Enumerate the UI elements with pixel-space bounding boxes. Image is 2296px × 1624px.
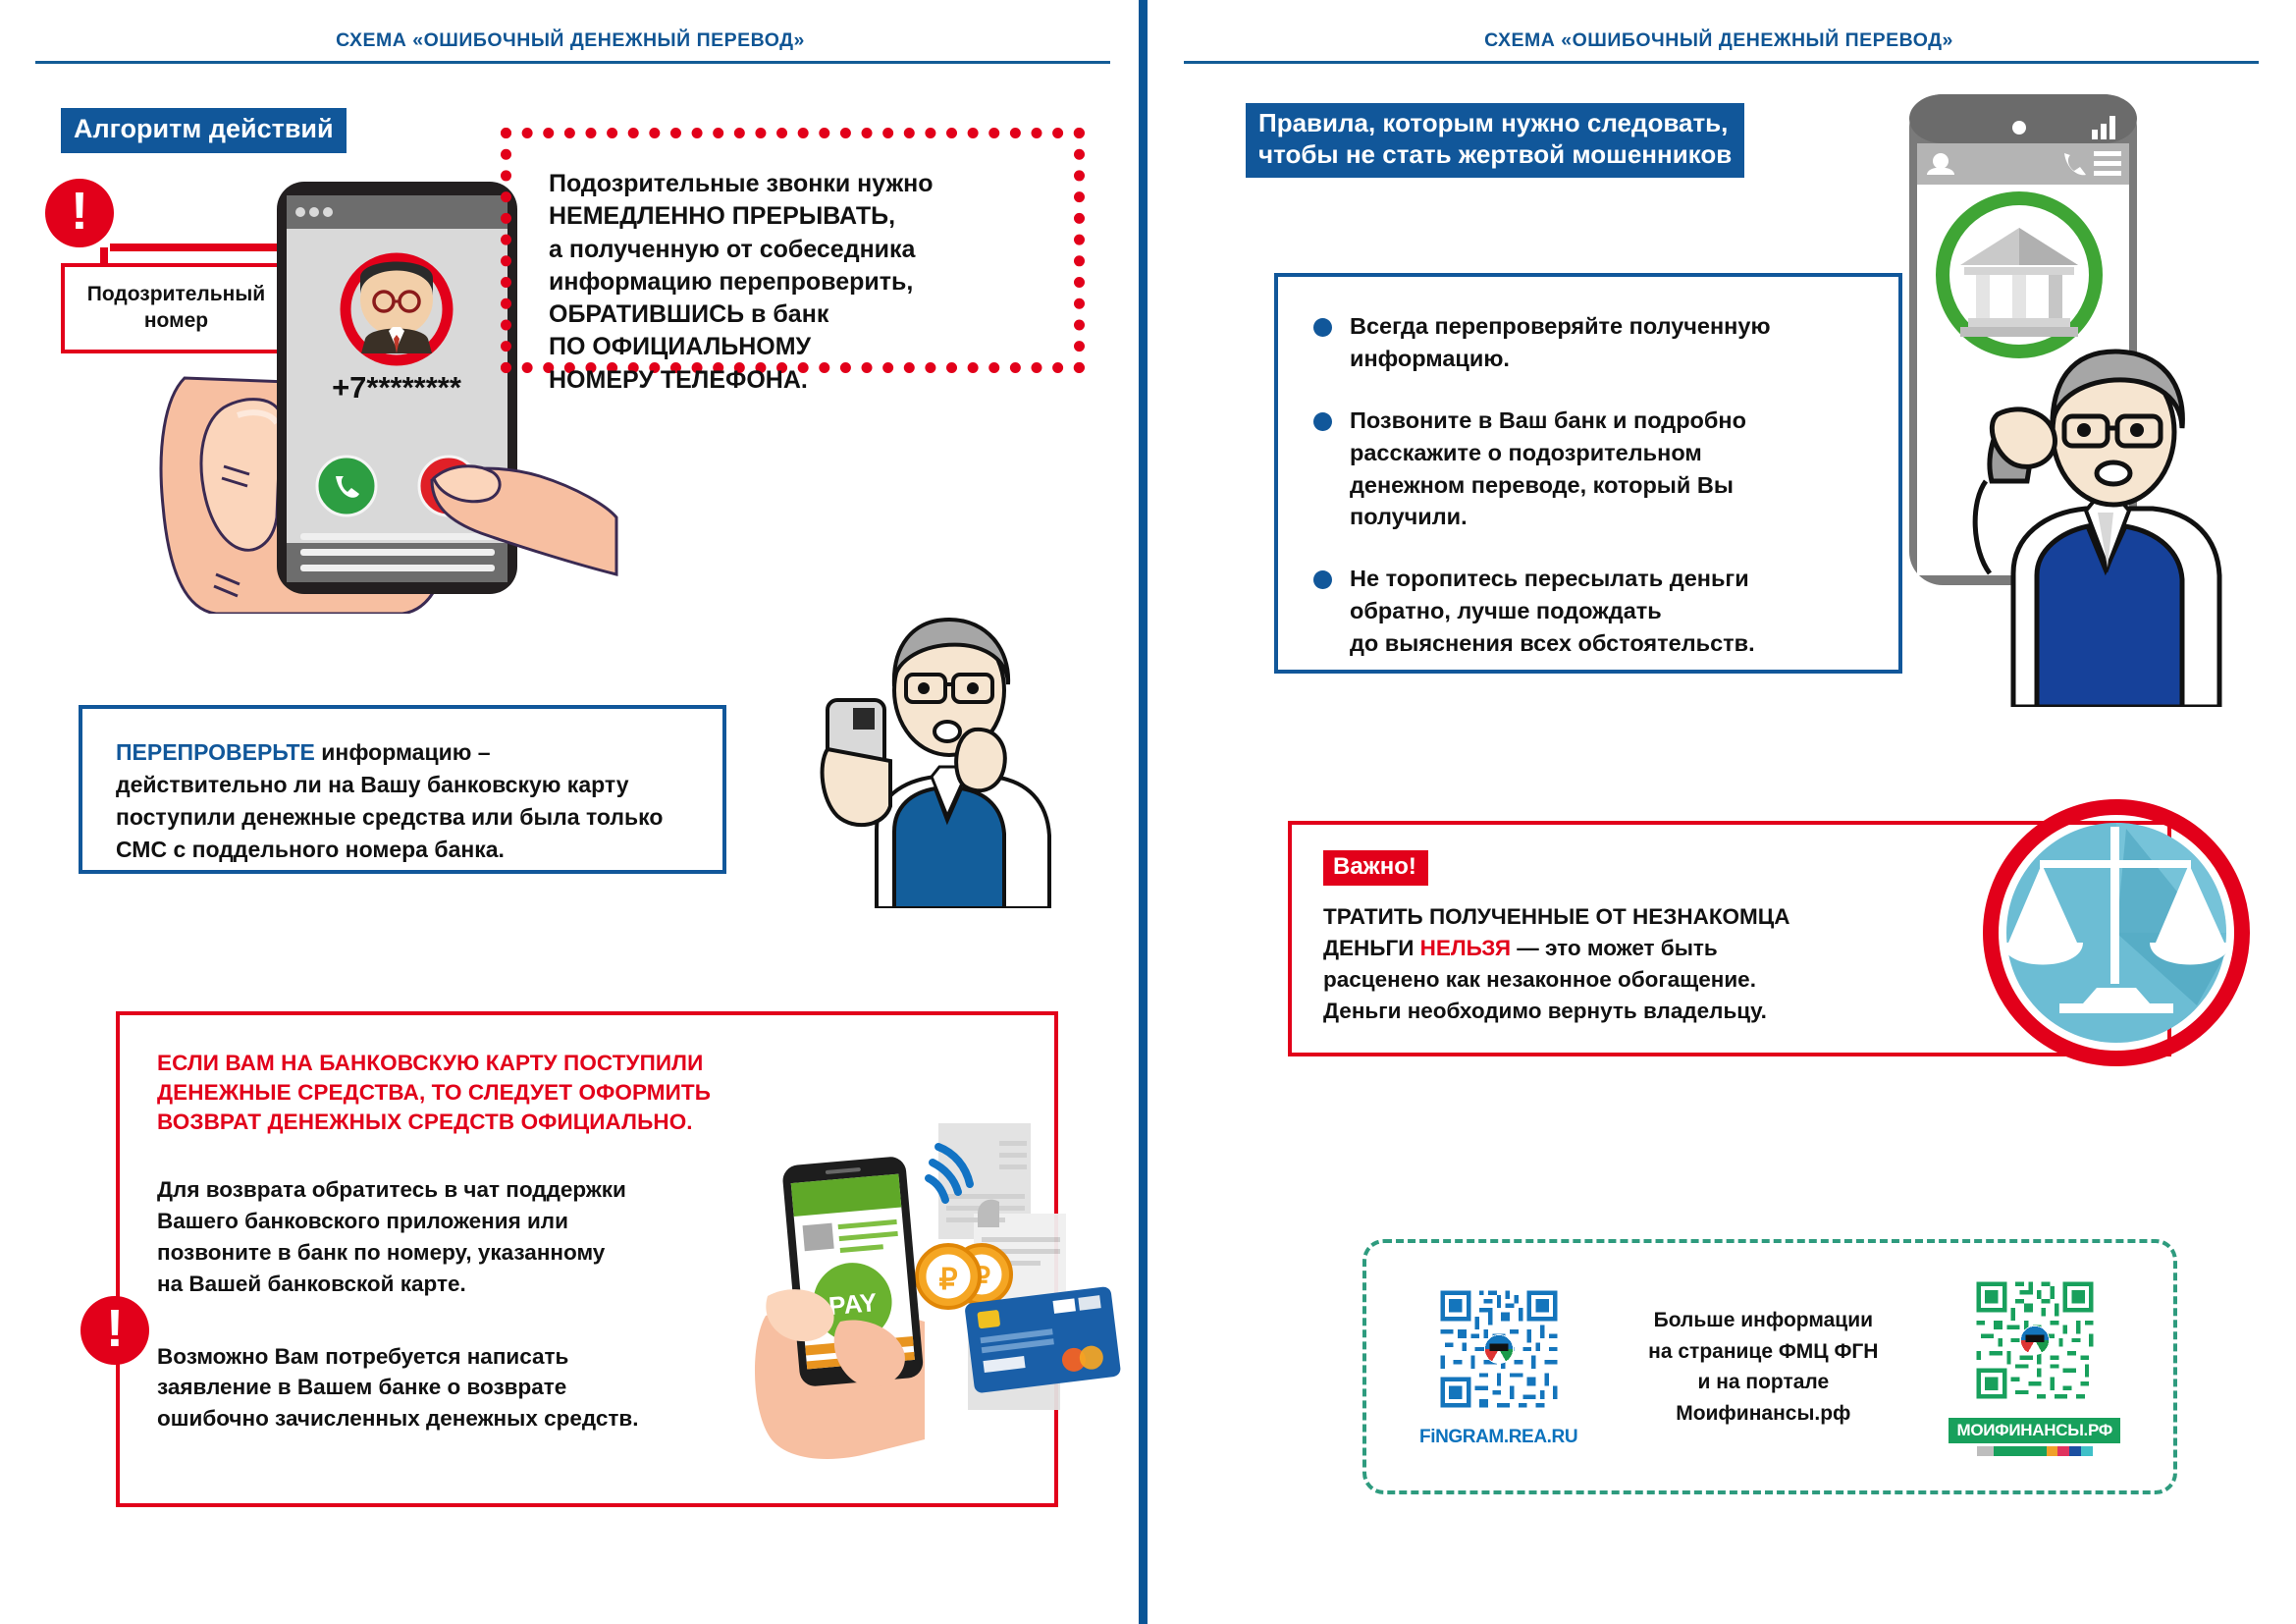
header-title: СХЕМА «ОШИБОЧНЫЙ ДЕНЕЖНЫЙ ПЕРЕВОД» (35, 29, 1105, 52)
qr-code-fingram-icon[interactable] (1436, 1286, 1562, 1412)
caller-number: +7******** (332, 370, 462, 405)
important-tag: Важно! (1323, 850, 1428, 886)
footer-line-2: на странице ФМЦ ФГН (1648, 1336, 1878, 1368)
refund-head-line-1: ЕСЛИ ВАМ НА БАНКОВСКУЮ КАРТУ ПОСТУПИЛИ (157, 1049, 785, 1078)
suspicious-calls-note: Подозрительные звонки нужно НЕМЕДЛЕННО П… (501, 128, 1085, 373)
rule-1-line-1: Всегда перепроверяйте полученную (1350, 313, 1771, 339)
footer-text: Больше информации на странице ФМЦ ФГН и … (1648, 1305, 1878, 1429)
recheck-line-1-rest: информацию – (315, 739, 491, 765)
header-rule (35, 61, 1110, 64)
left-page: СХЕМА «ОШИБОЧНЫЙ ДЕНЕЖНЫЙ ПЕРЕВОД» Алгор… (0, 0, 1148, 1624)
bank-call-illustration (1899, 79, 2292, 707)
section-title-algorithm: Алгоритм действий (61, 108, 347, 153)
refund-p1-line-1: Для возврата обратитесь в чат поддержки (157, 1174, 736, 1206)
header-title-right: СХЕМА «ОШИБОЧНЫЙ ДЕНЕЖНЫЙ ПЕРЕВОД» (1184, 29, 2254, 52)
qr-unit-fingram[interactable]: FiNGRAM.REA.RU (1419, 1286, 1577, 1448)
recheck-line-3: поступили денежные средства или была тол… (116, 801, 693, 834)
rule-2-line-1: Позвоните в Ваш банк и подробно (1350, 407, 1746, 433)
note-line-2: НЕМЕДЛЕННО ПРЕРЫВАТЬ, (549, 200, 1048, 233)
rule-3-line-2: обратно, лучше подождать (1350, 598, 1662, 623)
note-line-1: Подозрительные звонки нужно (549, 168, 1048, 200)
bullet-dot-icon (1313, 412, 1332, 431)
note-line-3: а полученную от собеседника (549, 234, 1048, 266)
rule-3-line-3: до выяснения всех обстоятельств. (1350, 630, 1755, 656)
list-item: Позвоните в Ваш банк и подробно расскажи… (1313, 405, 1865, 534)
page-divider (1139, 0, 1148, 1624)
qr-color-strip (1977, 1446, 2093, 1456)
section-title-rules: Правила, которым нужно следовать, чтобы … (1246, 103, 1744, 178)
qr-label-fingram: FiNGRAM.REA.RU (1419, 1427, 1577, 1448)
worried-man-illustration (800, 584, 1085, 908)
refund-head-line-2: ДЕНЕЖНЫЕ СРЕДСТВА, ТО СЛЕДУЕТ ОФОРМИТЬ (157, 1078, 785, 1108)
refund-p2-line-2: заявление в Вашем банке о возврате (157, 1372, 736, 1403)
rules-title-line-2: чтобы не стать жертвой мошенников (1258, 139, 1732, 171)
note-line-7: НОМЕРУ ТЕЛЕФОНА. (549, 364, 1048, 397)
bullet-dot-icon (1313, 318, 1332, 337)
rule-2-line-2: расскажите о подозрительном (1350, 440, 1702, 465)
right-page-header: СХЕМА «ОШИБОЧНЫЙ ДЕНЕЖНЫЙ ПЕРЕВОД» (1184, 29, 2254, 52)
rule-2-line-3: денежном переводе, который Вы (1350, 472, 1734, 498)
scales-of-justice-badge (1979, 795, 2254, 1070)
rule-1-line-2: информацию. (1350, 346, 1510, 371)
qr-unit-moifinansy[interactable]: МОИФИНАНСЫ.РФ (1949, 1277, 2120, 1456)
recheck-line-2: действительно ли на Вашу банковскую карт… (116, 769, 693, 801)
header-rule-right (1184, 61, 2259, 64)
recheck-line-4: СМС с поддельного номера банка. (116, 834, 693, 866)
refund-p1-line-3: позвоните в банк по номеру, указанному (157, 1237, 736, 1269)
footer-line-1: Больше информации (1648, 1305, 1878, 1336)
footer-line-4: Моифинансы.рф (1648, 1398, 1878, 1430)
qr-label-moifinansy: МОИФИНАНСЫ.РФ (1949, 1418, 2120, 1443)
refund-p2-line-3: ошибочно зачисленных денежных средств. (157, 1403, 736, 1435)
note-line-6: ПО ОФИЦИАЛЬНОМУ (549, 331, 1048, 363)
pay-button-label: PAY (828, 1287, 879, 1321)
qr-code-moifinansy-icon[interactable] (1972, 1277, 2098, 1403)
refund-p2-line-1: Возможно Вам потребуется написать (157, 1341, 736, 1373)
important-line-2-post: — это может быть (1511, 936, 1718, 960)
qr-footer-card: FiNGRAM.REA.RU Больше информации на стра… (1362, 1239, 2177, 1494)
refund-head-line-3: ВОЗВРАТ ДЕНЕЖНЫХ СРЕДСТВ ОФИЦИАЛЬНО. (157, 1108, 785, 1137)
bullet-dot-icon (1313, 570, 1332, 589)
svg-text:₽: ₽ (938, 1264, 957, 1296)
refund-p1-line-2: Вашего банковского приложения или (157, 1206, 736, 1237)
refund-p1-line-4: на Вашей банковской карте. (157, 1269, 736, 1300)
hamburger-menu-icon (2094, 151, 2121, 176)
note-line-4: информацию перепроверить, (549, 266, 1048, 298)
footer-line-3: и на портале (1648, 1367, 1878, 1398)
rules-list-box: Всегда перепроверяйте полученную информа… (1274, 273, 1902, 674)
list-item: Всегда перепроверяйте полученную информа… (1313, 310, 1865, 375)
rule-2-line-4: получили. (1350, 504, 1468, 529)
rule-3-line-1: Не торопитесь пересылать деньги (1350, 566, 1749, 591)
rules-title-line-1: Правила, которым нужно следовать, (1258, 108, 1732, 139)
important-line-2-red: НЕЛЬЗЯ (1420, 936, 1511, 960)
recheck-keyword: ПЕРЕПРОВЕРЬТЕ (116, 739, 315, 765)
important-line-2-pre: ДЕНЬГИ (1323, 936, 1420, 960)
note-line-5: ОБРАТИВШИСЬ в банк (549, 298, 1048, 331)
mobile-payment-illustration: ₽ ₽ PAY (746, 1119, 1139, 1463)
list-item: Не торопитесь пересылать деньги обратно,… (1313, 563, 1865, 660)
recheck-info-box: ПЕРЕПРОВЕРЬТЕ информацию – действительно… (79, 705, 726, 874)
left-page-header: СХЕМА «ОШИБОЧНЫЙ ДЕНЕЖНЫЙ ПЕРЕВОД» (35, 29, 1105, 52)
exclamation-badge-refund: ! (80, 1296, 149, 1365)
